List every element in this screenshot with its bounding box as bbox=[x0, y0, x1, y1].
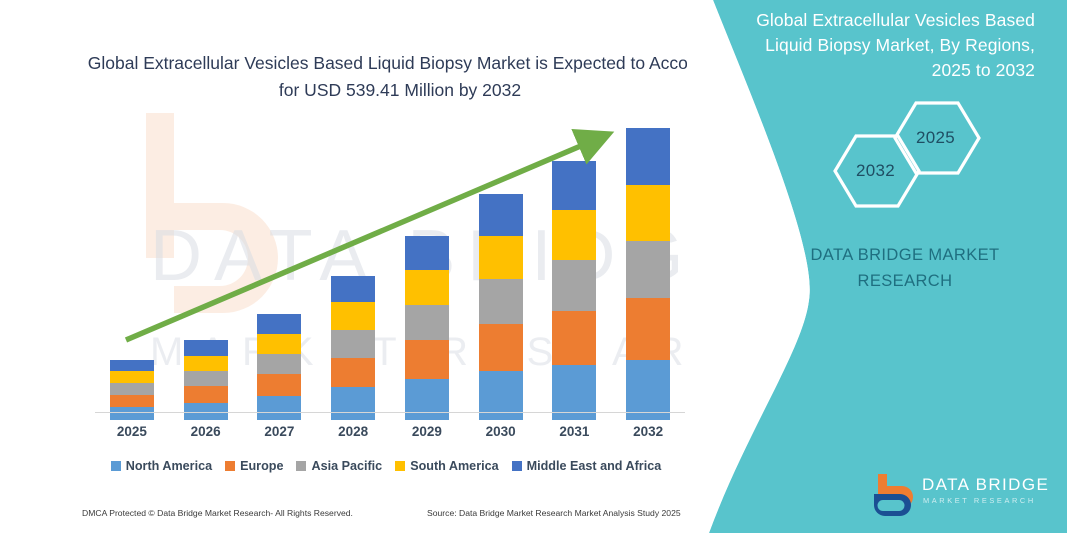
legend-item-south-america[interactable]: South America bbox=[395, 459, 498, 473]
legend-item-asia-pacific[interactable]: Asia Pacific bbox=[296, 459, 382, 473]
hexagon-shapes-icon bbox=[820, 98, 1000, 213]
legend-label: Europe bbox=[240, 459, 283, 473]
x-axis-label-2031: 2031 bbox=[544, 424, 604, 439]
data-bridge-b-mark-icon bbox=[872, 473, 920, 517]
chart-legend: North AmericaEuropeAsia PacificSouth Ame… bbox=[96, 459, 676, 473]
legend-label: Middle East and Africa bbox=[527, 459, 662, 473]
panel-brand-line1: DATA BRIDGE MARKET bbox=[760, 242, 1050, 268]
trend-arrow-icon bbox=[90, 120, 710, 420]
x-axis-label-2030: 2030 bbox=[471, 424, 531, 439]
panel-brand-line2: RESEARCH bbox=[760, 268, 1050, 294]
legend-label: South America bbox=[410, 459, 498, 473]
x-axis-label-2025: 2025 bbox=[102, 424, 162, 439]
legend-swatch-icon bbox=[111, 461, 121, 471]
legend-item-middle-east-and-africa[interactable]: Middle East and Africa bbox=[512, 459, 662, 473]
legend-item-europe[interactable]: Europe bbox=[225, 459, 283, 473]
legend-swatch-icon bbox=[225, 461, 235, 471]
legend-label: North America bbox=[126, 459, 212, 473]
logo-tagline: MARKET RESEARCH bbox=[923, 496, 1036, 505]
data-bridge-logo: DATA BRIDGE MARKET RESEARCH bbox=[872, 473, 1057, 517]
legend-swatch-icon bbox=[296, 461, 306, 471]
footer-copyright: DMCA Protected © Data Bridge Market Rese… bbox=[82, 508, 353, 518]
legend-swatch-icon bbox=[512, 461, 522, 471]
legend-label: Asia Pacific bbox=[311, 459, 382, 473]
logo-name: DATA BRIDGE bbox=[922, 475, 1049, 495]
legend-item-north-america[interactable]: North America bbox=[111, 459, 212, 473]
hexagon-year-badges: 2025 2032 bbox=[820, 98, 1000, 213]
hex-label-2032: 2032 bbox=[856, 161, 895, 181]
x-axis-label-2026: 2026 bbox=[176, 424, 236, 439]
x-axis-label-2028: 2028 bbox=[323, 424, 383, 439]
x-axis-label-2029: 2029 bbox=[397, 424, 457, 439]
infographic-canvas: DATA BRIDGE MARKET RESEARCH Global Extra… bbox=[0, 0, 1067, 533]
panel-title: Global Extracellular Vesicles Based Liqu… bbox=[735, 8, 1035, 83]
chart-title: Global Extracellular Vesicles Based Liqu… bbox=[80, 50, 720, 104]
x-axis-label-2027: 2027 bbox=[249, 424, 309, 439]
hex-label-2025: 2025 bbox=[916, 128, 955, 148]
panel-brand-text: DATA BRIDGE MARKET RESEARCH bbox=[760, 242, 1050, 294]
x-axis-line bbox=[95, 412, 685, 413]
legend-swatch-icon bbox=[395, 461, 405, 471]
x-axis-label-2032: 2032 bbox=[618, 424, 678, 439]
footer-source: Source: Data Bridge Market Research Mark… bbox=[427, 508, 681, 518]
